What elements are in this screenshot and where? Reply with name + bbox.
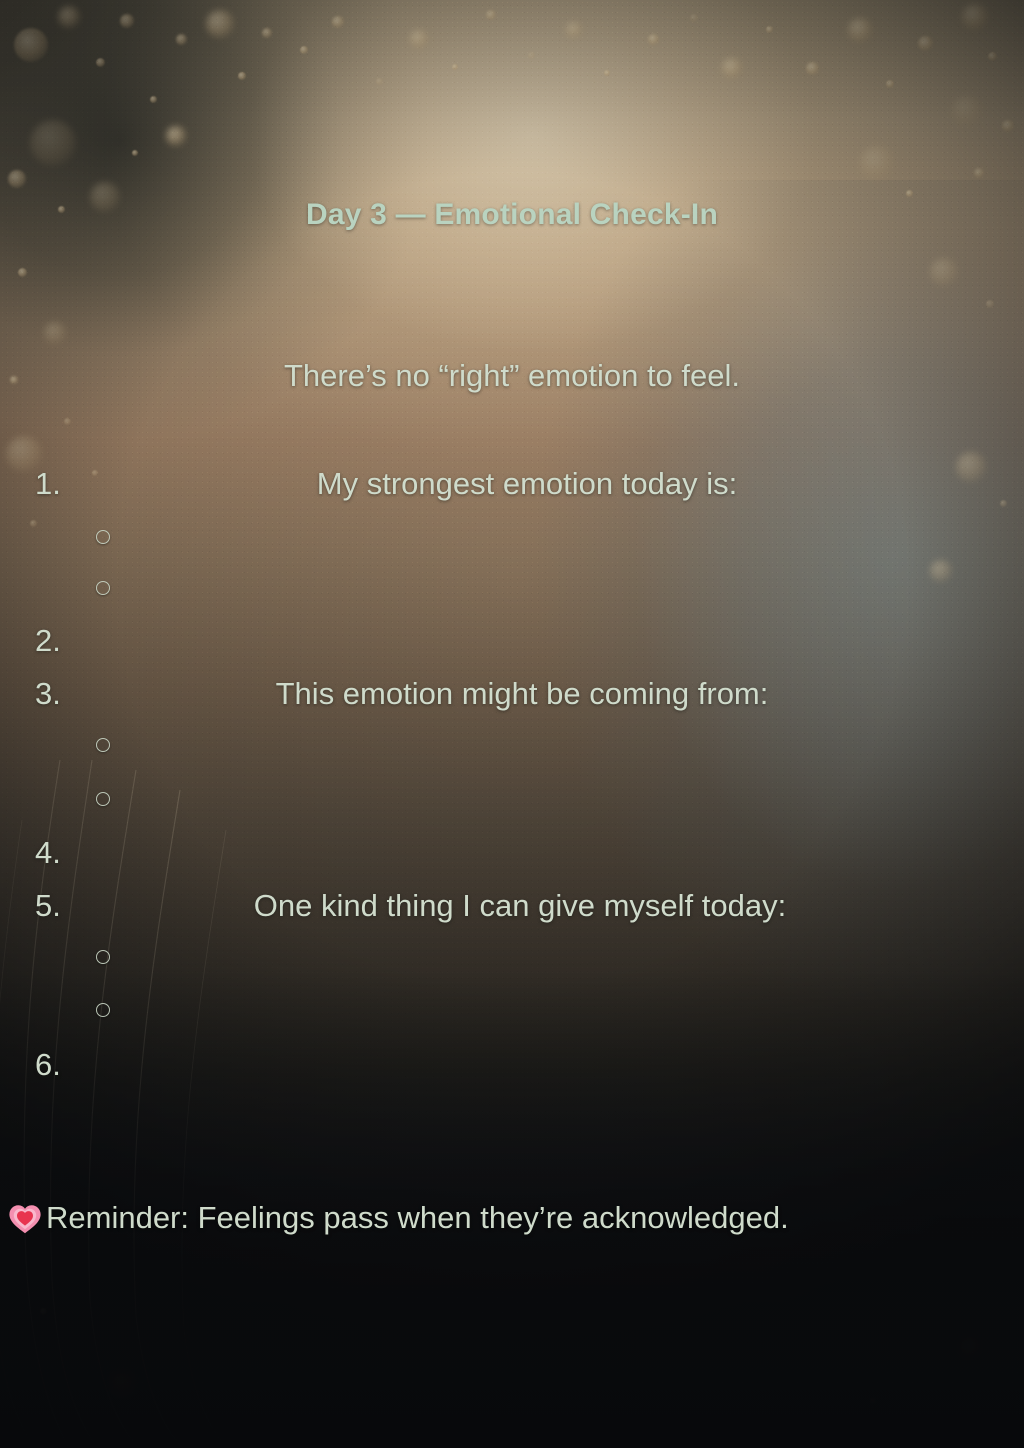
- page-title: Day 3 — Emotional Check-In: [0, 198, 1024, 232]
- list-number-2: 2.: [35, 623, 61, 659]
- hollow-circle-icon[interactable]: [96, 530, 110, 544]
- hollow-circle-icon[interactable]: [96, 581, 110, 595]
- prompt-text-3: One kind thing I can give myself today:: [0, 888, 1024, 924]
- footer-reminder: Reminder: Feelings pass when they’re ack…: [8, 1200, 789, 1236]
- prompt-text-2: This emotion might be coming from:: [0, 676, 1024, 712]
- list-number-6: 6.: [35, 1047, 61, 1083]
- prompt-text-1: My strongest emotion today is:: [0, 466, 1024, 502]
- hollow-circle-icon[interactable]: [96, 792, 110, 806]
- intro-line: There’s no “right” emotion to feel.: [0, 358, 1024, 394]
- hollow-circle-icon[interactable]: [96, 1003, 110, 1017]
- growing-heart-icon: [8, 1203, 42, 1235]
- journal-page: Day 3 — Emotional Check-In There’s no “r…: [0, 0, 1024, 1448]
- list-number-4: 4.: [35, 835, 61, 871]
- hollow-circle-icon[interactable]: [96, 738, 110, 752]
- page-content: Day 3 — Emotional Check-In There’s no “r…: [0, 0, 1024, 1448]
- footer-reminder-text: Reminder: Feelings pass when they’re ack…: [46, 1200, 789, 1236]
- hollow-circle-icon[interactable]: [96, 950, 110, 964]
